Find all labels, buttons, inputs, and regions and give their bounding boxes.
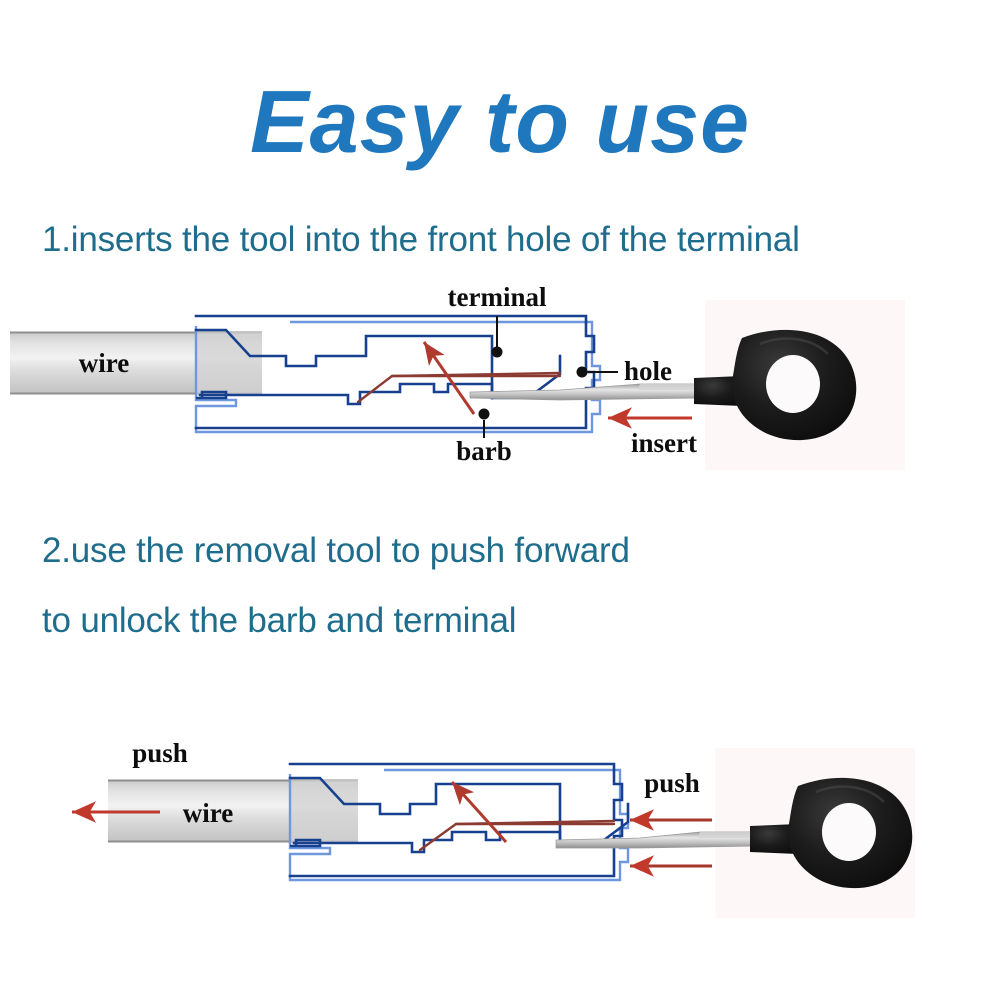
hole-label: hole xyxy=(624,356,672,386)
wire-insert-segment xyxy=(196,332,262,394)
tool-blade-tip-bevel xyxy=(698,832,756,838)
barb-release-arrow xyxy=(424,342,474,414)
wire-group: wire xyxy=(10,332,262,394)
step-1-text: 1.inserts the tool into the front hole o… xyxy=(42,222,800,257)
label-push-tool-group: push xyxy=(630,768,712,866)
wire-insert-segment xyxy=(290,780,358,842)
label-barb-group: barb xyxy=(456,409,512,467)
step-2-text-line-2: to unlock the barb and terminal xyxy=(42,603,516,638)
diagram-step-2: wire push xyxy=(0,720,1000,920)
step-2-text-line-1: 2.use the removal tool to push forward xyxy=(42,533,630,568)
tool-ring-hole xyxy=(766,355,820,413)
barb-leader-dot xyxy=(479,409,490,420)
terminal-label: terminal xyxy=(448,282,547,312)
push-tool-label: push xyxy=(644,768,700,798)
label-terminal-group: terminal xyxy=(448,282,547,358)
wire-group: wire push xyxy=(72,738,358,842)
page-title: Easy to use xyxy=(0,78,1000,166)
diagram-step-1: wire xyxy=(0,280,1000,480)
hole-leader-dot xyxy=(577,367,588,378)
label-insert-group: insert xyxy=(608,418,697,458)
wire-label: wire xyxy=(79,348,129,378)
tool-ring-hole xyxy=(822,803,876,861)
wire-label: wire xyxy=(183,798,233,828)
insert-label: insert xyxy=(631,428,697,458)
barb-label: barb xyxy=(456,436,512,466)
terminal-leader-dot xyxy=(492,347,503,358)
push-wire-label: push xyxy=(132,738,188,768)
